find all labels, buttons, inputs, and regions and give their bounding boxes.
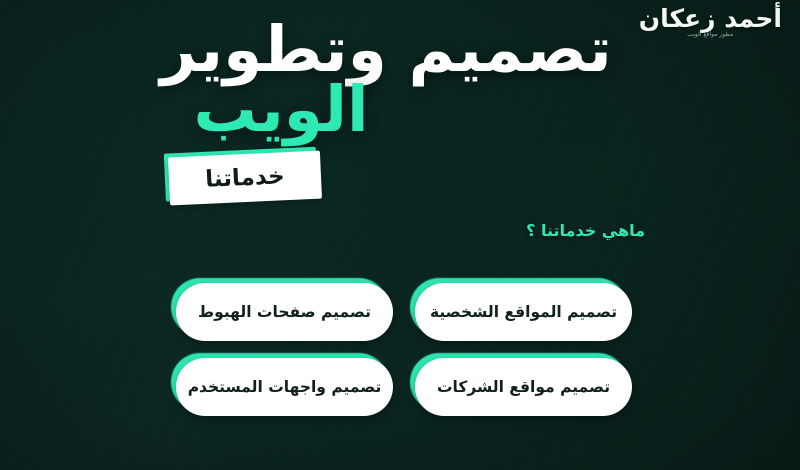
service-card-slot: تصميم صفحات الهبوط (176, 283, 393, 341)
service-card-label: تصميم واجهات المستخدم (188, 378, 382, 396)
service-card-slot: تصميم مواقع الشركات (415, 358, 632, 416)
service-card-label: تصميم مواقع الشركات (437, 378, 610, 396)
services-badge-label: خدماتنا (205, 163, 286, 193)
service-card-landing-pages[interactable]: تصميم صفحات الهبوط (176, 283, 393, 341)
services-card-grid: تصميم المواقع الشخصية تصميم صفحات الهبوط… (176, 283, 632, 416)
banner-stage: أحمد زعكان مطور مواقع الويب تصميم وتطوير… (0, 0, 800, 470)
service-card-label: تصميم المواقع الشخصية (430, 303, 617, 321)
services-badge-card: خدماتنا (168, 151, 322, 206)
service-card-label: تصميم صفحات الهبوط (198, 303, 371, 321)
service-card-slot: تصميم واجهات المستخدم (176, 358, 393, 416)
service-card-personal-websites[interactable]: تصميم المواقع الشخصية (415, 283, 632, 341)
content-layer: أحمد زعكان مطور مواقع الويب تصميم وتطوير… (0, 0, 800, 470)
service-card-ui-design[interactable]: تصميم واجهات المستخدم (176, 358, 393, 416)
service-card-company-websites[interactable]: تصميم مواقع الشركات (415, 358, 632, 416)
hero-headline: تصميم وتطوير الويب (66, 18, 766, 143)
services-badge: خدماتنا (168, 151, 322, 206)
headline-line-1: تصميم وتطوير (66, 18, 766, 82)
headline-line-2: الويب (66, 78, 766, 142)
services-question: ماهي خدماتنا ؟ (526, 221, 645, 240)
service-card-slot: تصميم المواقع الشخصية (415, 283, 632, 341)
